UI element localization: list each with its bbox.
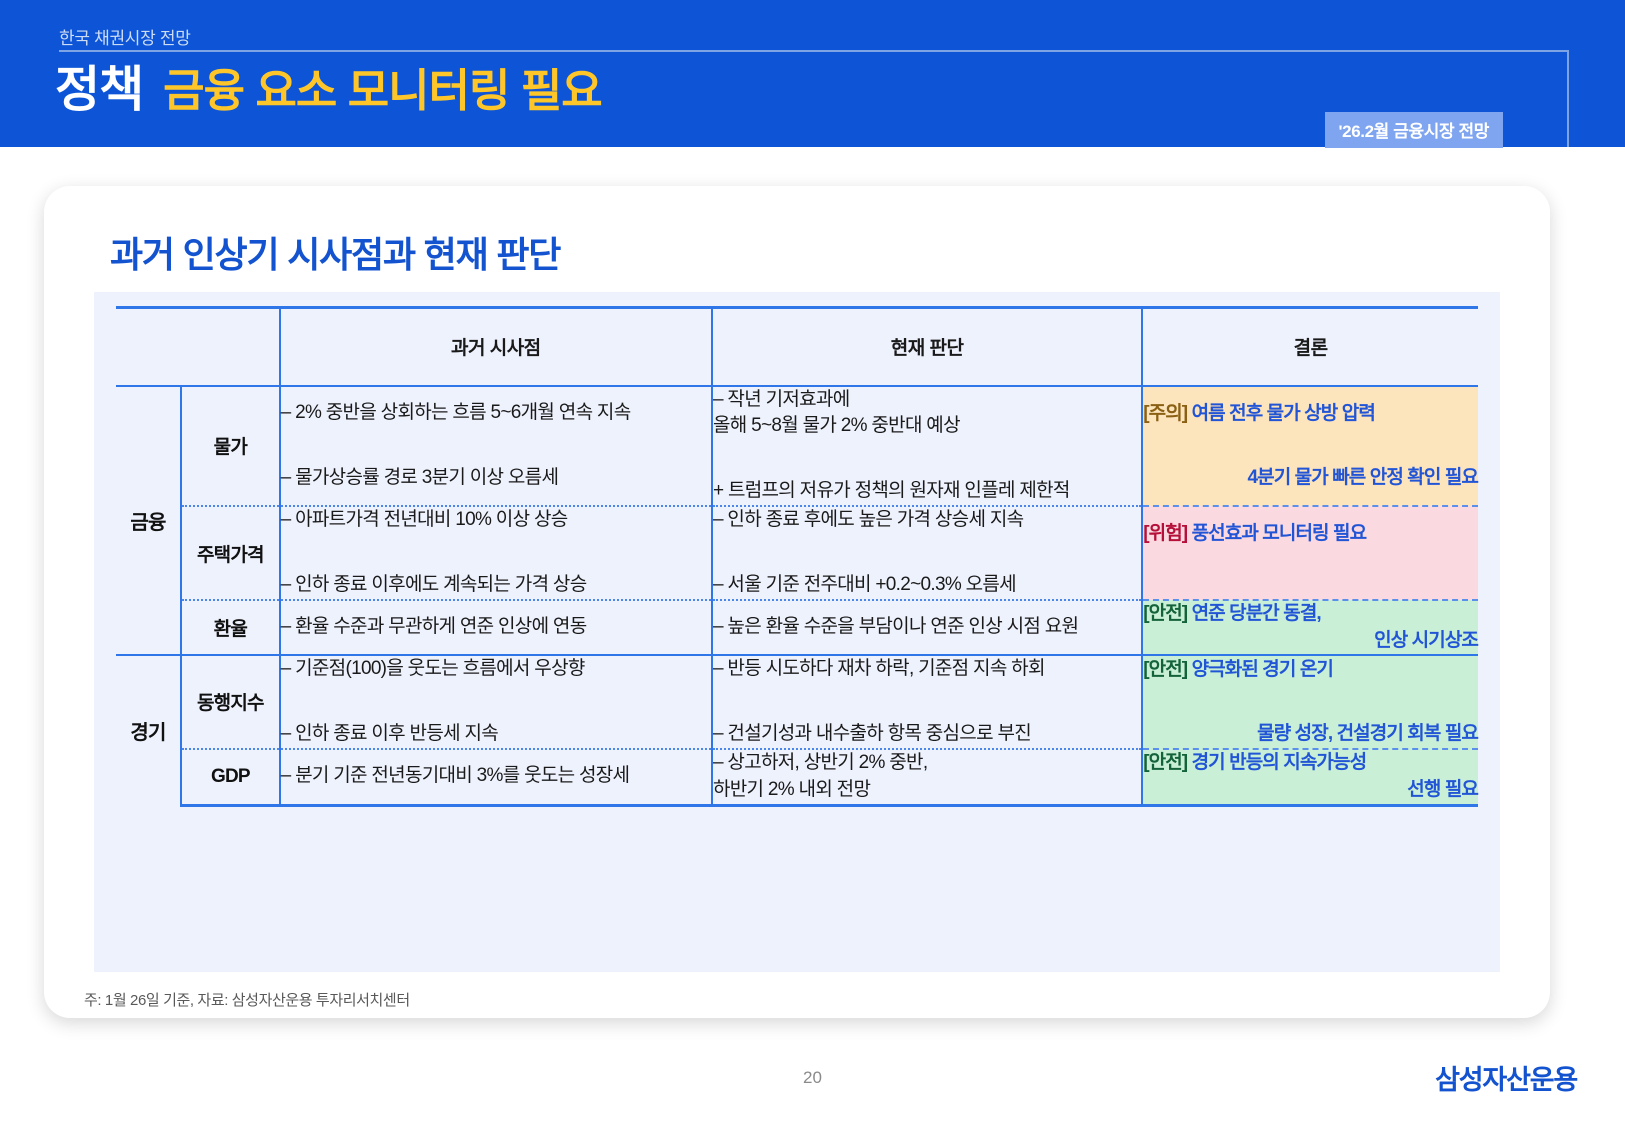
sub-label-housing: 주택가격 <box>181 506 280 600</box>
status-badge: [위험] <box>1143 523 1187 544</box>
cell-now-housing: – 인하 종료 후에도 높은 가격 상승세 지속 – 서울 기준 전주대비 +0… <box>712 506 1142 600</box>
cell-conclusion-fx: [안전] 연준 당분간 동결, 인상 시기상조 <box>1142 600 1478 654</box>
sub-label-fx: 환율 <box>181 600 280 654</box>
table-header-past: 과거 시사점 <box>280 308 712 386</box>
header-title-group: 정책 금융 요소 모니터링 필요 <box>55 66 602 115</box>
cell-conclusion-coincident-index: [안전] 양극화된 경기 온기 물량 성장, 건설경기 회복 필요 <box>1142 655 1478 749</box>
table-header-row: 과거 시사점 현재 판단 결론 <box>116 308 1478 386</box>
table-row: GDP – 분기 기준 전년동기대비 3%를 웃도는 성장세 – 상고하저, 상… <box>116 749 1478 805</box>
cell-conclusion-prices: [주의] 여름 전후 물가 상방 압력 4분기 물가 빠른 안정 확인 필요 <box>1142 386 1478 507</box>
header-divider-vertical <box>1567 50 1569 147</box>
company-logo: 삼성자산운용 <box>1435 1058 1577 1097</box>
comparison-table: 과거 시사점 현재 판단 결론 금융 물가 – 2% 중반을 상회하는 흐름 5… <box>116 306 1478 807</box>
cell-past-coincident-index: – 기준점(100)을 웃도는 흐름에서 우상향 – 인하 종료 이후 반등세 … <box>280 655 712 749</box>
header-badge: '26.2월 금융시장 전망 <box>1325 112 1503 148</box>
cell-now-fx: – 높은 환율 수준을 부담이나 연준 인상 시점 요원 <box>712 600 1142 654</box>
status-badge: [안전] <box>1143 603 1187 624</box>
header-title: 금융 요소 모니터링 필요 <box>163 68 602 113</box>
table-header-now: 현재 판단 <box>712 308 1142 386</box>
cell-past-fx: – 환율 수준과 무관하게 연준 인상에 연동 <box>280 600 712 654</box>
table-row: 금융 물가 – 2% 중반을 상회하는 흐름 5~6개월 연속 지속 – 물가상… <box>116 386 1478 507</box>
header-category: 정책 <box>55 66 143 115</box>
sub-label-prices: 물가 <box>181 386 280 507</box>
cell-conclusion-gdp: [안전] 경기 반등의 지속가능성 선행 필요 <box>1142 749 1478 805</box>
status-badge: [안전] <box>1143 659 1187 680</box>
status-badge: [주의] <box>1143 403 1187 424</box>
cell-past-gdp: – 분기 기준 전년동기대비 3%를 웃도는 성장세 <box>280 749 712 805</box>
sub-label-coincident-index: 동행지수 <box>181 655 280 749</box>
footnote: 주: 1월 26일 기준, 자료: 삼성자산운용 투자리서치센터 <box>84 989 410 1010</box>
slide-header: 한국 채권시장 전망 정책 금융 요소 모니터링 필요 '26.2월 금융시장 … <box>0 0 1625 147</box>
table-row: 환율 – 환율 수준과 무관하게 연준 인상에 연동 – 높은 환율 수준을 부… <box>116 600 1478 654</box>
table-row: 주택가격 – 아파트가격 전년대비 10% 이상 상승 – 인하 종료 이후에도… <box>116 506 1478 600</box>
content-card: 과거 인상기 시사점과 현재 판단 과거 시사점 현재 판단 결론 금융 물가 … <box>44 186 1550 1018</box>
cell-conclusion-housing: [위험] 풍선효과 모니터링 필요 <box>1142 506 1478 600</box>
header-eyebrow: 한국 채권시장 전망 <box>59 24 191 49</box>
page-number: 20 <box>0 1068 1625 1088</box>
cell-past-prices: – 2% 중반을 상회하는 흐름 5~6개월 연속 지속 – 물가상승률 경로 … <box>280 386 712 507</box>
cell-now-gdp: – 상고하저, 상반기 2% 중반, 하반기 2% 내외 전망 <box>712 749 1142 805</box>
sub-label-gdp: GDP <box>181 749 280 805</box>
cell-past-housing: – 아파트가격 전년대비 10% 이상 상승 – 인하 종료 이후에도 계속되는… <box>280 506 712 600</box>
group-label-finance: 금융 <box>116 386 181 655</box>
page-title: 과거 인상기 시사점과 현재 판단 <box>110 226 560 278</box>
table-row: 경기 동행지수 – 기준점(100)을 웃도는 흐름에서 우상향 – 인하 종료… <box>116 655 1478 749</box>
cell-now-coincident-index: – 반등 시도하다 재차 하락, 기준점 지속 하회 – 건설기성과 내수출하 … <box>712 655 1142 749</box>
header-divider <box>59 50 1569 52</box>
table-header-blank <box>116 308 280 386</box>
status-badge: [안전] <box>1143 752 1187 773</box>
cell-now-prices: – 작년 기저효과에 올해 5~8월 물가 2% 중반대 예상 + 트럼프의 저… <box>712 386 1142 507</box>
table-header-conclusion: 결론 <box>1142 308 1478 386</box>
table-container: 과거 시사점 현재 판단 결론 금융 물가 – 2% 중반을 상회하는 흐름 5… <box>94 292 1500 972</box>
group-label-economy: 경기 <box>116 655 181 805</box>
